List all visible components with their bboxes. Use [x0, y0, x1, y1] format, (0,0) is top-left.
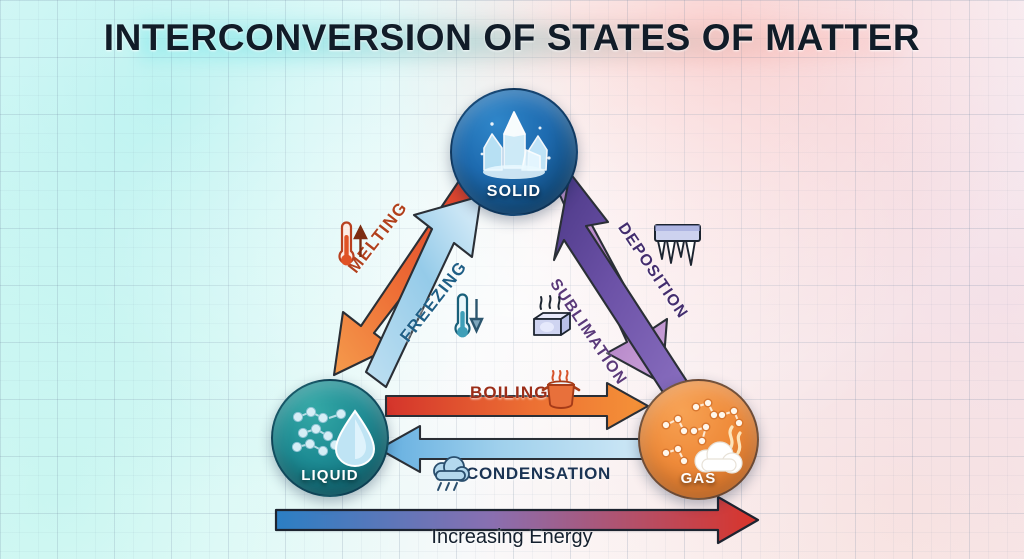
state-node-liquid[interactable]: LIQUID — [271, 379, 389, 497]
energy-axis-label: Increasing Energy — [0, 526, 1024, 549]
page-title: INTERCONVERSION OF STATES OF MATTER — [0, 17, 1024, 59]
transition-label-condensation: CONDENSATION — [466, 464, 611, 484]
state-node-solid[interactable]: SOLID — [450, 88, 578, 216]
diagram-canvas: INTERCONVERSION OF STATES OF MATTER — [0, 0, 1024, 559]
state-node-gas[interactable]: GAS — [638, 379, 759, 500]
transition-label-boiling: BOILING — [470, 383, 549, 403]
state-node-solid-label: SOLID — [487, 183, 541, 201]
thermometer-down-icon — [449, 291, 485, 347]
state-node-liquid-label: LIQUID — [301, 467, 358, 484]
boiling-pot-icon — [540, 370, 582, 410]
state-node-gas-label: GAS — [681, 470, 717, 487]
ice-cube-vapor-icon — [529, 295, 575, 339]
rain-cloud-icon — [428, 455, 472, 493]
icicles-icon — [650, 219, 706, 269]
thermometer-up-icon — [333, 219, 369, 275]
title-block: INTERCONVERSION OF STATES OF MATTER — [0, 17, 1024, 59]
